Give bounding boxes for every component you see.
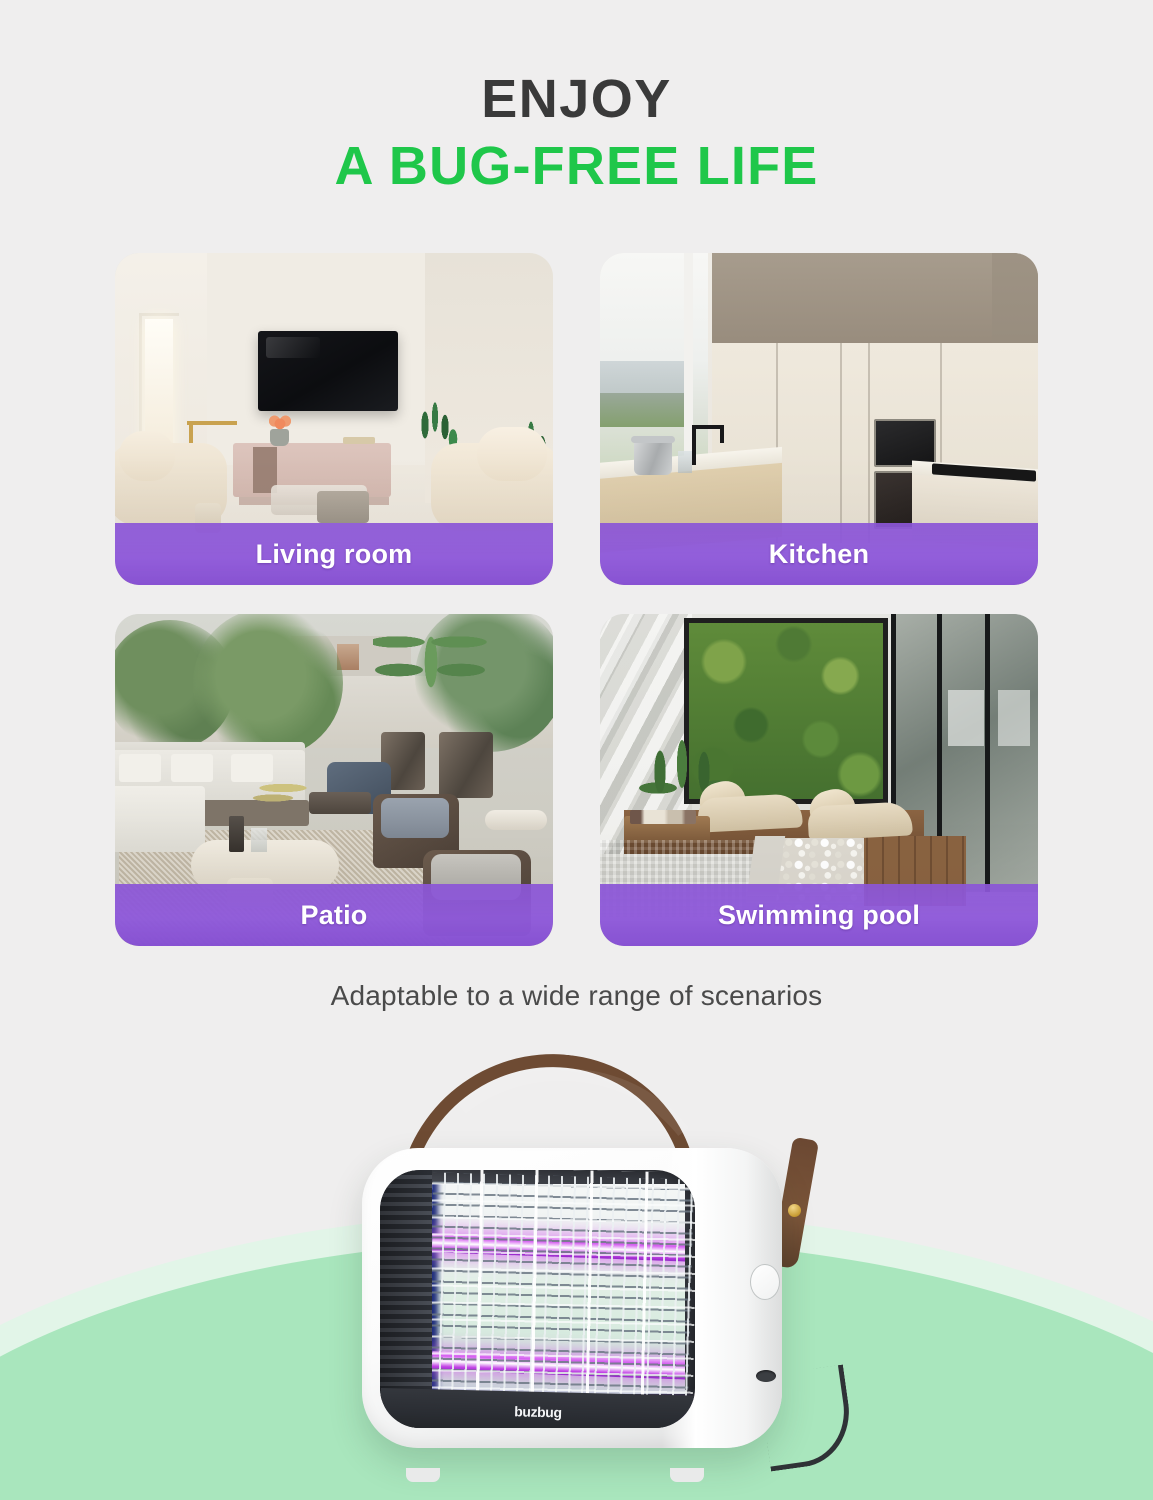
scenario-label: Swimming pool xyxy=(718,900,920,931)
device-foot xyxy=(406,1468,440,1482)
scenario-label-band: Patio xyxy=(115,884,553,946)
scenario-card-patio[interactable]: Patio xyxy=(115,614,553,946)
marketing-page: ENJOY A BUG-FREE LIFE xyxy=(0,0,1153,1500)
product-image-bug-zapper: buzbug xyxy=(352,1052,822,1472)
device-foot xyxy=(670,1468,704,1482)
headline-line-2: A BUG-FREE LIFE xyxy=(0,133,1153,201)
wire-mesh-outer xyxy=(424,1170,695,1413)
scenario-label: Living room xyxy=(256,539,413,570)
scenario-card-swimming-pool[interactable]: Swimming pool xyxy=(600,614,1038,946)
scenario-card-kitchen[interactable]: Kitchen xyxy=(600,253,1038,585)
scenario-label: Patio xyxy=(300,900,367,931)
scenario-card-living-room[interactable]: Living room xyxy=(115,253,553,585)
scenario-grid: Living room xyxy=(115,253,1038,946)
scenario-label-band: Living room xyxy=(115,523,553,585)
device-grille: buzbug xyxy=(380,1170,695,1428)
scenario-label-band: Swimming pool xyxy=(600,884,1038,946)
headline-line-1: ENJOY xyxy=(0,72,1153,127)
power-button[interactable] xyxy=(750,1264,780,1300)
scenario-label: Kitchen xyxy=(769,539,869,570)
logo-bezel: buzbug xyxy=(380,1388,695,1428)
scenario-label-band: Kitchen xyxy=(600,523,1038,585)
scenario-caption: Adaptable to a wide range of scenarios xyxy=(0,980,1153,1012)
brand-logo: buzbug xyxy=(514,1403,562,1420)
page-title: ENJOY A BUG-FREE LIFE xyxy=(0,72,1153,201)
